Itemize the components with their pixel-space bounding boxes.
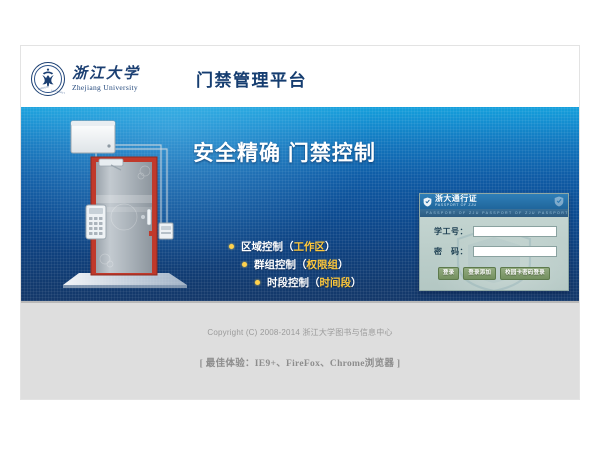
bullet-dot-icon [242, 262, 247, 267]
watermark-text: PASSPORT OF ZJU PASSPORT OF ZJU PASSPORT… [420, 211, 568, 215]
bullet-tail: ） [325, 239, 336, 254]
door-illustration [49, 113, 199, 298]
username-label: 学工号： [428, 226, 468, 237]
university-name: 浙江大学 Zhejiang University [72, 62, 140, 96]
login-panel-watermark-strip: PASSPORT OF ZJU PASSPORT OF ZJU PASSPORT… [420, 209, 568, 217]
feature-bullet-time-control: 时段控制（ 时间段 ） [255, 275, 362, 290]
username-input[interactable] [473, 226, 557, 237]
bullet-label: 区域控制（ [241, 239, 294, 254]
hero-banner: 安全精确 门禁控制 区域控制（ 工作区 ） 群组控制（ 权限组 ） 时段控制（ … [21, 107, 579, 301]
svg-text:UNIVERSITY: UNIVERSITY [51, 89, 65, 95]
university-name-cn: 浙江大学 [72, 66, 140, 83]
login-panel-titlebar: 浙大通行证 PASSPORT OF ZJU [420, 194, 568, 209]
bullet-dot-icon [229, 244, 234, 249]
zju-seal-icon: ZHEJIANG UNIVERSITY [31, 62, 65, 96]
bullet-label: 群组控制（ [254, 257, 307, 272]
bullet-highlight: 权限组 [307, 257, 339, 272]
bullet-label: 时段控制（ [267, 275, 320, 290]
page-root: ZHEJIANG UNIVERSITY 浙江大学 Zhejiang Univer… [0, 0, 600, 450]
login-button[interactable]: 登录 [438, 267, 459, 280]
main-card: ZHEJIANG UNIVERSITY 浙江大学 Zhejiang Univer… [20, 45, 580, 400]
site-header: ZHEJIANG UNIVERSITY 浙江大学 Zhejiang Univer… [21, 46, 579, 107]
page-title: 门禁管理平台 [196, 66, 307, 91]
login-button-group: 登录 登录添加 校园卡密码登录 [420, 267, 568, 280]
login-panel: 浙大通行证 PASSPORT OF ZJU PASSPORT OF ZJU PA… [419, 193, 569, 291]
login-panel-body: 学工号： 密 码： 登录 登录添加 校园卡密码登录 [420, 217, 568, 291]
feature-bullet-area-control: 区域控制（ 工作区 ） [229, 239, 336, 254]
bullet-tail: ） [338, 257, 349, 272]
feature-bullet-group-control: 群组控制（ 权限组 ） [242, 257, 349, 272]
password-input[interactable] [473, 246, 557, 257]
svg-text:ZHEJIANG: ZHEJIANG [38, 85, 50, 91]
login-add-button[interactable]: 登录添加 [463, 267, 496, 280]
university-logo-block[interactable]: ZHEJIANG UNIVERSITY 浙江大学 Zhejiang Univer… [31, 62, 140, 96]
bullet-highlight: 工作区 [294, 239, 326, 254]
copyright-text: Copyright (C) 2008-2014 浙江大学图书与信息中心 [21, 327, 579, 338]
site-footer: Copyright (C) 2008-2014 浙江大学图书与信息中心 [ 最佳… [21, 301, 579, 399]
bullet-tail: ） [351, 275, 362, 290]
university-name-en: Zhejiang University [72, 83, 140, 93]
login-panel-title-cn: 浙大通行证 [435, 195, 477, 203]
shield-icon [423, 197, 432, 207]
bullet-highlight: 时间段 [320, 275, 352, 290]
password-label: 密 码： [428, 246, 468, 257]
login-field-row-username: 学工号： [428, 226, 557, 237]
login-panel-title-en: PASSPORT OF ZJU [435, 204, 477, 208]
shield-watermark-icon [554, 196, 564, 207]
hero-slogan: 安全精确 门禁控制 [193, 137, 376, 167]
campus-card-login-button[interactable]: 校园卡密码登录 [500, 267, 550, 280]
browser-compatibility-tip: [ 最佳体验：IE9+、FireFox、Chrome浏览器 ] [21, 355, 579, 369]
login-field-row-password: 密 码： [428, 246, 557, 257]
bullet-dot-icon [255, 280, 260, 285]
